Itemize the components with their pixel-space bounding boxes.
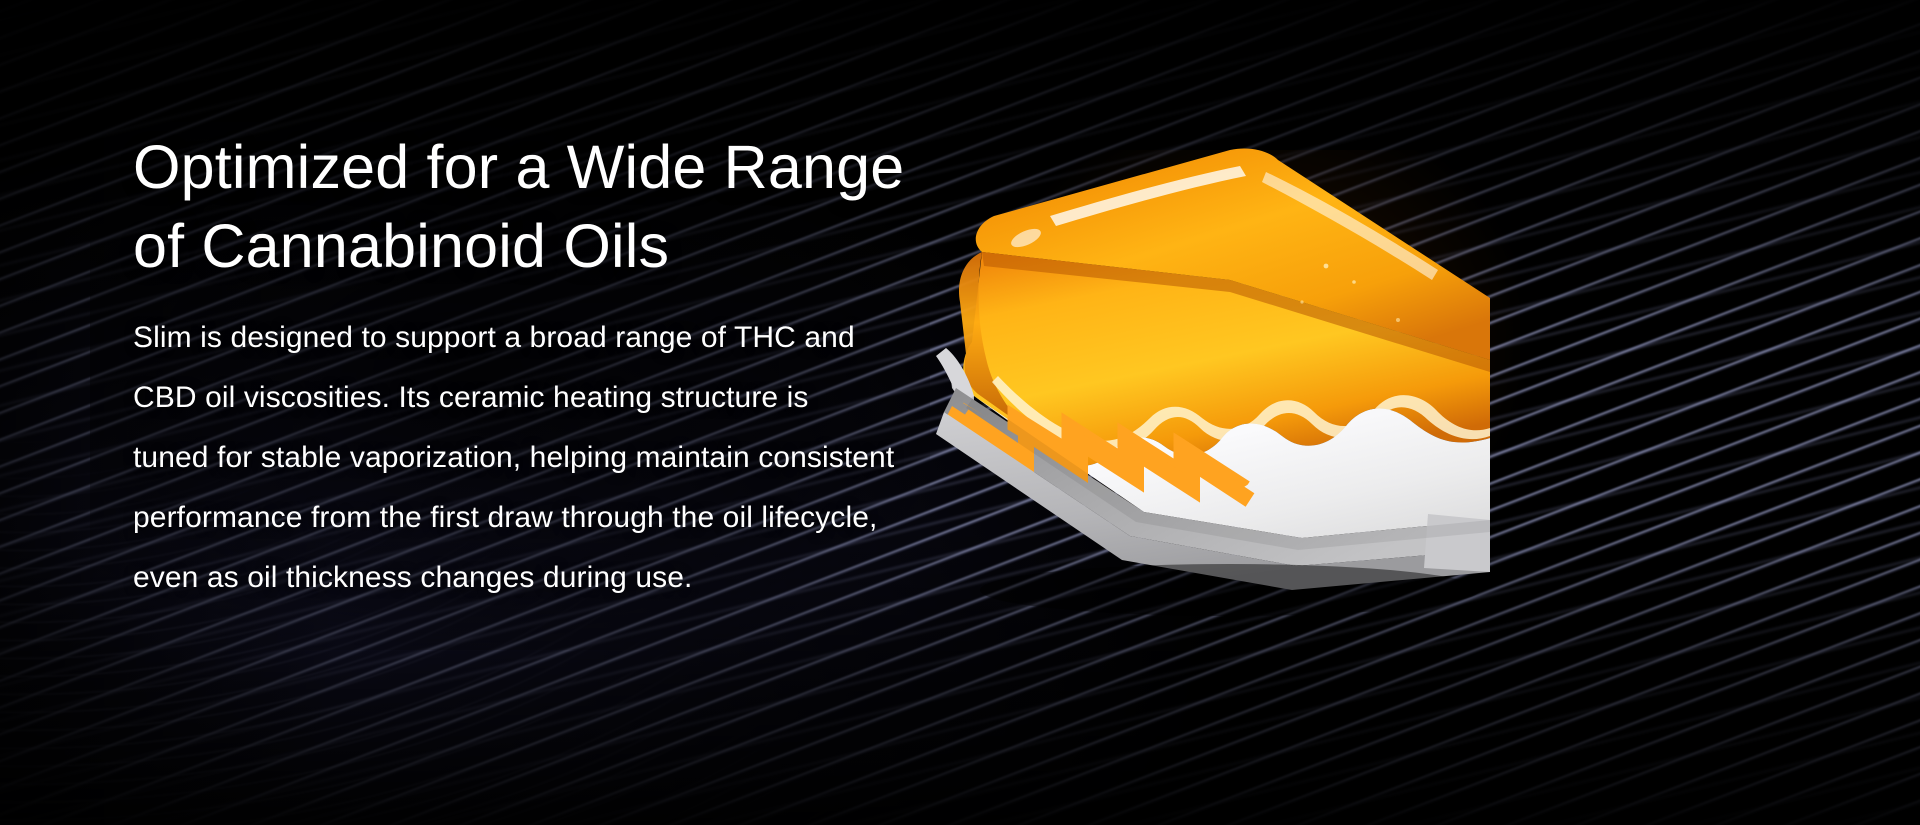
oil-bubble — [1300, 300, 1303, 303]
hero-banner: Optimized for a Wide Range of Cannabinoi… — [0, 0, 1920, 825]
product-image — [930, 120, 1490, 570]
body-paragraph: Slim is designed to support a broad rang… — [133, 308, 923, 608]
oil-bubble — [1352, 280, 1356, 284]
copy-block: Optimized for a Wide Range of Cannabinoi… — [133, 128, 923, 608]
oil-bubble — [1396, 318, 1400, 322]
product-contact-shadow — [980, 564, 1480, 616]
oil-bubble — [1324, 264, 1329, 269]
page-title: Optimized for a Wide Range of Cannabinoi… — [133, 128, 923, 286]
